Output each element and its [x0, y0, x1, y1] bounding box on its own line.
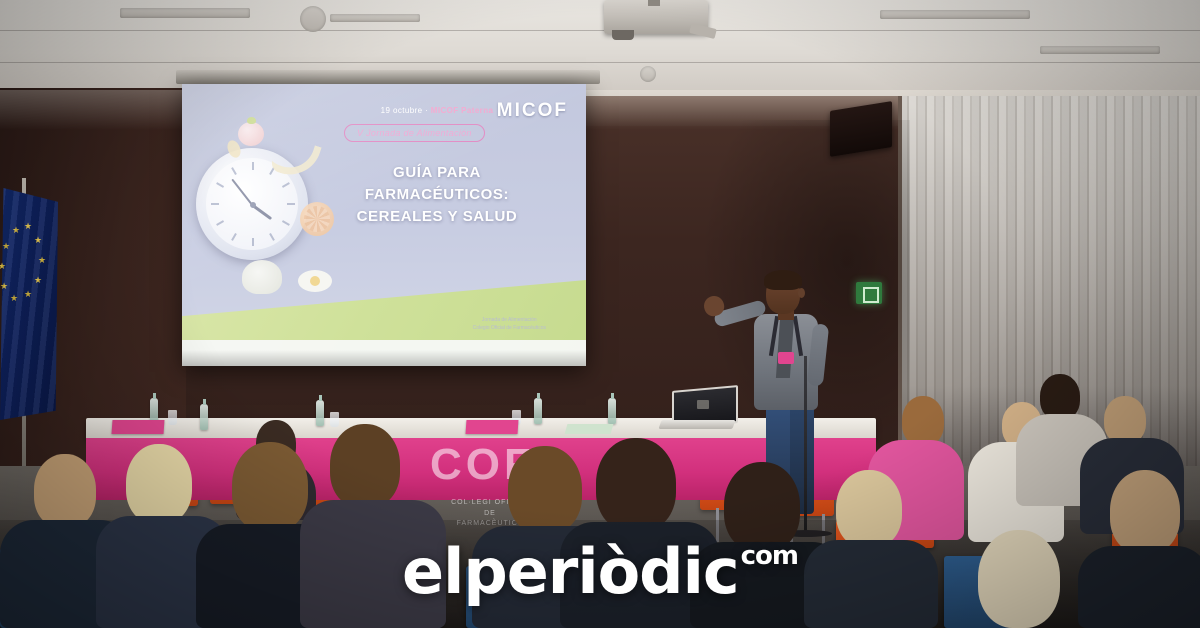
ceiling-light	[640, 66, 656, 82]
watermark-suffix: com	[741, 541, 798, 571]
audience-head	[330, 424, 400, 508]
exit-sign	[856, 282, 882, 304]
projector-lens	[612, 30, 634, 40]
ceiling-seam	[0, 30, 1200, 31]
water-bottle	[316, 400, 324, 426]
ceiling-light	[300, 6, 326, 32]
laptop-base	[658, 420, 735, 429]
speaker-hair	[764, 270, 802, 290]
ceiling-vent	[880, 10, 1030, 19]
audience-head	[1104, 396, 1146, 444]
screen-bottom-shadow	[182, 350, 586, 366]
microphone-stand	[804, 356, 807, 534]
audience-head	[126, 444, 192, 524]
presentation-slide: MICOF 19 octubre · MICOF Paterna V Jorna…	[182, 84, 586, 366]
drinking-glass	[168, 410, 177, 425]
ceiling-vent	[330, 14, 420, 22]
name-card	[112, 420, 165, 434]
watermark-brand: elperiòdic	[402, 535, 739, 608]
ceiling-vent	[120, 8, 250, 18]
conference-room-photo: MICOF 19 octubre · MICOF Paterna V Jorna…	[0, 0, 1200, 628]
audience-head	[34, 454, 96, 528]
audience-head	[508, 446, 582, 534]
projector-mount	[648, 0, 660, 6]
screen-glare	[182, 84, 586, 366]
audience-head	[902, 396, 944, 446]
flag-folds	[0, 188, 58, 420]
water-bottle	[608, 398, 616, 424]
wall-speaker	[830, 101, 892, 157]
audience-head	[596, 438, 676, 532]
speaker-ear	[798, 288, 805, 298]
document-folder	[565, 424, 614, 434]
water-bottle	[200, 404, 208, 430]
water-bottle	[534, 398, 542, 424]
audience-head	[232, 442, 308, 532]
drinking-glass	[330, 412, 339, 427]
name-card	[466, 420, 519, 434]
watermark: elperiòdiccom	[0, 535, 1200, 608]
ceiling-seam	[0, 62, 1200, 63]
projection-screen-case	[176, 70, 600, 84]
laptop-logo	[697, 400, 709, 409]
speaker-badge	[778, 352, 794, 364]
projection-screen: MICOF 19 octubre · MICOF Paterna V Jorna…	[182, 84, 586, 366]
ceiling-vent	[1040, 46, 1160, 54]
